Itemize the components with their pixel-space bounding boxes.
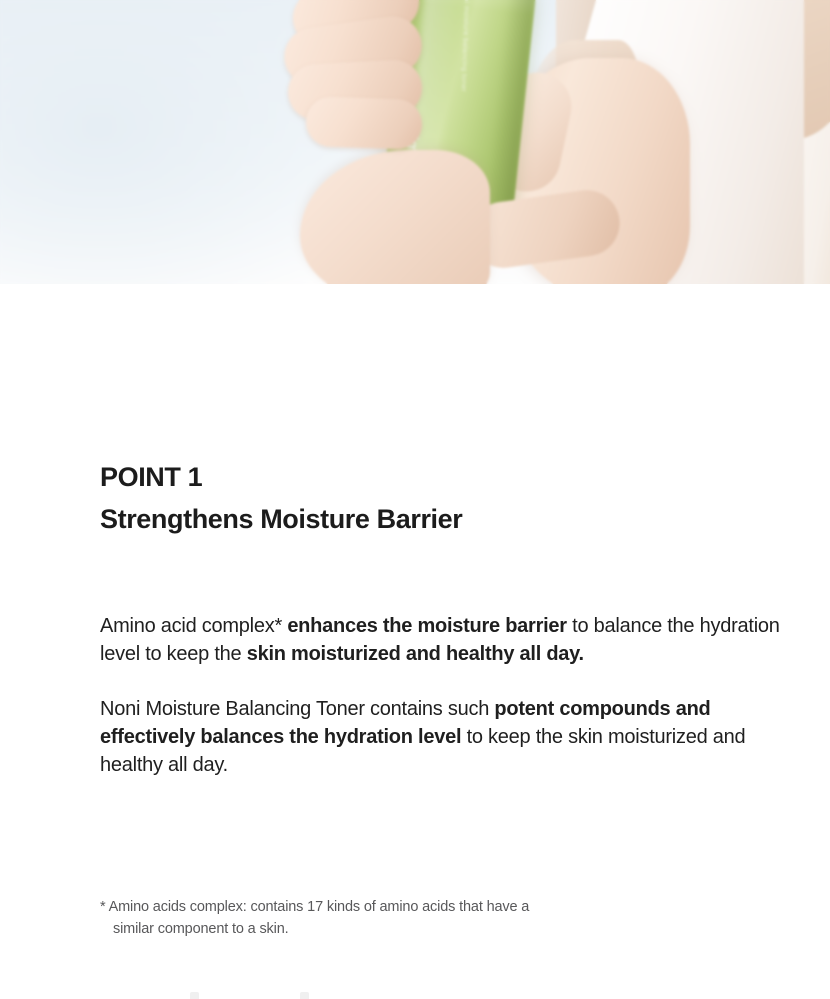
next-section-peek [0,988,830,999]
body-text: Amino acid complex* [100,615,287,637]
body-text: Noni Moisture Balancing Toner contains s… [100,698,494,720]
hero-product-photo: noni moisture balancing toner celimax [0,0,830,284]
emphasis-text: skin moisturized and healthy all day. [247,643,584,665]
page-title: Strengthens Moisture Barrier [100,498,760,540]
next-section-mark-2 [300,992,309,999]
paragraph-1: Amino acid complex* enhances the moistur… [100,612,780,668]
emphasis-text: enhances the moisture barrier [287,615,567,637]
section-heading: POINT 1 Strengthens Moisture Barrier [100,456,760,540]
footnote-line-1: * Amino acids complex: contains 17 kinds… [100,896,740,918]
left-finger-4 [305,96,423,150]
paragraph-2: Noni Moisture Balancing Toner contains s… [100,695,780,779]
section-eyebrow: POINT 1 [100,456,760,498]
next-section-mark-1 [190,992,199,999]
bottle-top-label: noni moisture balancing toner [460,0,471,92]
section-body: Amino acid complex* enhances the moistur… [100,612,780,779]
footnote: * Amino acids complex: contains 17 kinds… [100,896,740,940]
product-detail-page: noni moisture balancing toner celimax PO… [0,0,830,999]
left-hand [286,0,451,168]
footnote-line-2: similar component to a skin. [100,918,740,940]
